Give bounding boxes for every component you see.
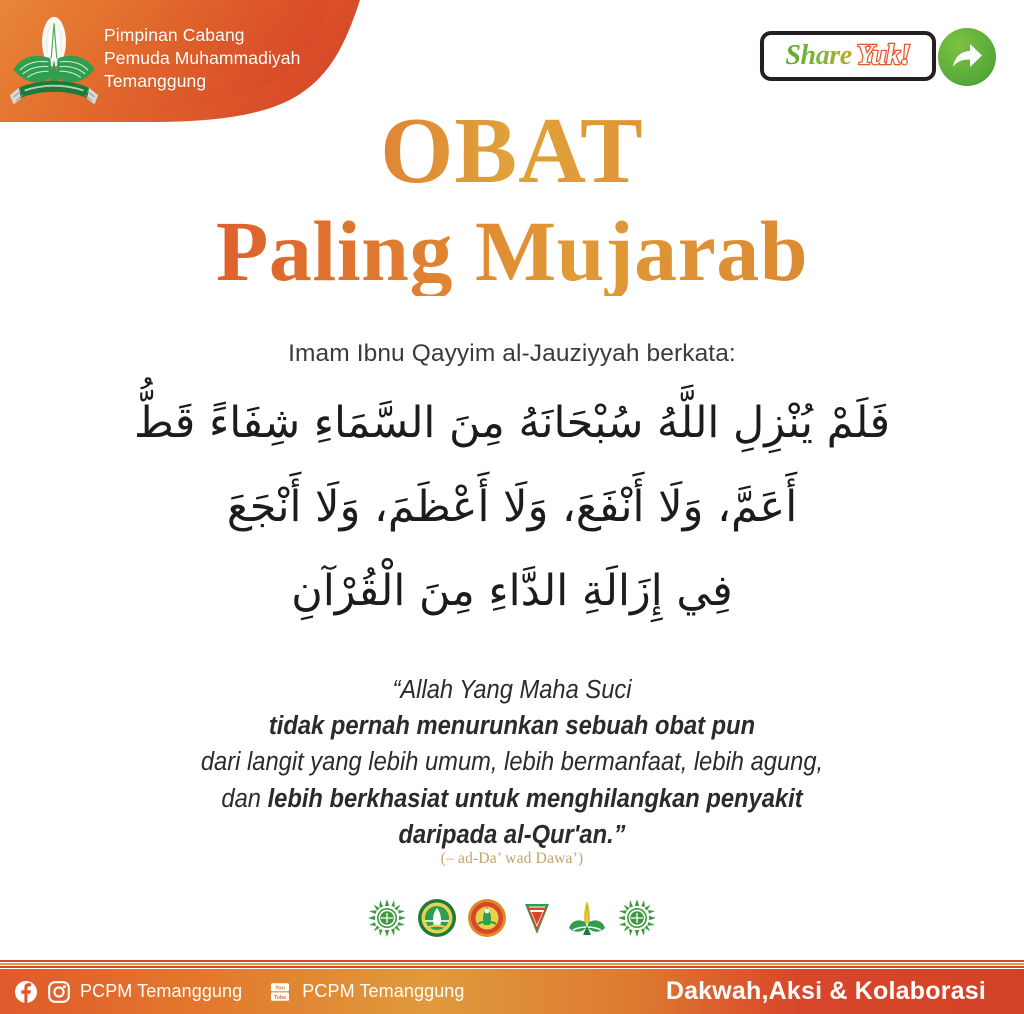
translation-line-4-bold: lebih berkhasiat untuk menghilangkan pen…: [268, 785, 803, 813]
share-arrow-icon: [950, 42, 984, 72]
translation-line-5-bold: daripada al-Qur'an.”: [398, 821, 625, 849]
ipm-shield-emblem: [517, 898, 557, 938]
youtube-group[interactable]: You Tube PCPM Temanggung: [268, 980, 464, 1004]
aisyiyah-circle-emblem: [417, 898, 457, 938]
translation-line-3: dari langit yang lebih umum, lebih berma…: [36, 744, 988, 780]
org-line-1: Pimpinan Cabang: [104, 24, 300, 47]
muhammadiyah-sun-emblem-2: [617, 898, 657, 938]
hizbul-wathan-emblem: [567, 898, 607, 938]
footer: PCPM Temanggung You Tube PCPM Temanggung…: [0, 960, 1024, 1014]
footer-bar: PCPM Temanggung You Tube PCPM Temanggung…: [0, 969, 1024, 1014]
organization-emblems: [0, 898, 1024, 938]
share-badge[interactable]: Share Yuk!: [760, 28, 996, 86]
share-arrow-button[interactable]: [938, 28, 996, 86]
instagram-icon[interactable]: [47, 980, 71, 1004]
social-handle: PCPM Temanggung: [80, 981, 242, 1002]
arabic-quote: فَلَمْ يُنْزِلِ اللَّهُ سُبْحَانَهُ مِنَ…: [0, 382, 1024, 634]
translation-line-5: daripada al-Qur'an.”: [36, 817, 988, 853]
organization-name: Pimpinan Cabang Pemuda Muhammadiyah Tema…: [104, 24, 300, 93]
svg-text:You: You: [275, 985, 285, 991]
poster-title: OBAT Paling Mujarab: [0, 104, 1024, 296]
arabic-line-3: فِي إِزَالَةِ الدَّاءِ مِنَ الْقُرْآنِ: [0, 550, 1024, 634]
facebook-icon[interactable]: [14, 980, 38, 1004]
org-line-3: Temanggung: [104, 70, 300, 93]
share-label-box[interactable]: Share Yuk!: [760, 31, 936, 81]
footer-tagline: Dakwah,Aksi & Kolaborasi: [666, 969, 986, 1014]
title-main: OBAT: [0, 104, 1024, 200]
facebook-instagram-group[interactable]: PCPM Temanggung: [14, 980, 242, 1004]
translation-line-1: “Allah Yang Maha Suci: [36, 672, 988, 708]
youtube-icon[interactable]: You Tube: [268, 980, 292, 1004]
title-sub: Paling Mujarab: [0, 206, 1024, 296]
attribution-line: Imam Ibnu Qayyim al-Jauziyyah berkata:: [0, 340, 1024, 368]
translation-line-2-bold: tidak pernah menurunkan sebuah obat pun: [269, 712, 755, 740]
poster-canvas: Pimpinan Cabang Pemuda Muhammadiyah Tema…: [0, 0, 1024, 1014]
translation-line-4: dan lebih berkhasiat untuk menghilangkan…: [36, 781, 988, 817]
translation-line-4-plain: dan: [221, 785, 267, 813]
org-line-2: Pemuda Muhammadiyah: [104, 47, 300, 70]
pemuda-muhammadiyah-logo: [8, 14, 100, 110]
arabic-line-1: فَلَمْ يُنْزِلِ اللَّهُ سُبْحَانَهُ مِنَ…: [0, 382, 1024, 466]
svg-text:Tube: Tube: [274, 995, 286, 1001]
youtube-handle: PCPM Temanggung: [302, 981, 464, 1002]
arabic-line-2: أَعَمَّ، وَلَا أَنْفَعَ، وَلَا أَعْظَمَ،…: [0, 466, 1024, 550]
footer-stripes: [0, 960, 1024, 969]
translation-line-2: tidak pernah menurunkan sebuah obat pun: [36, 708, 988, 744]
yuk-text: Yuk!: [857, 42, 911, 70]
share-text: Share: [785, 42, 856, 70]
nasyiatul-aisyiyah-emblem: [467, 898, 507, 938]
stripe-red-bottom: [0, 966, 1024, 968]
muhammadiyah-sun-emblem: [367, 898, 407, 938]
translation-block: “Allah Yang Maha Suci tidak pernah menur…: [36, 672, 988, 853]
source-citation: (– ad-Da’ wad Dawa’): [0, 850, 1024, 868]
